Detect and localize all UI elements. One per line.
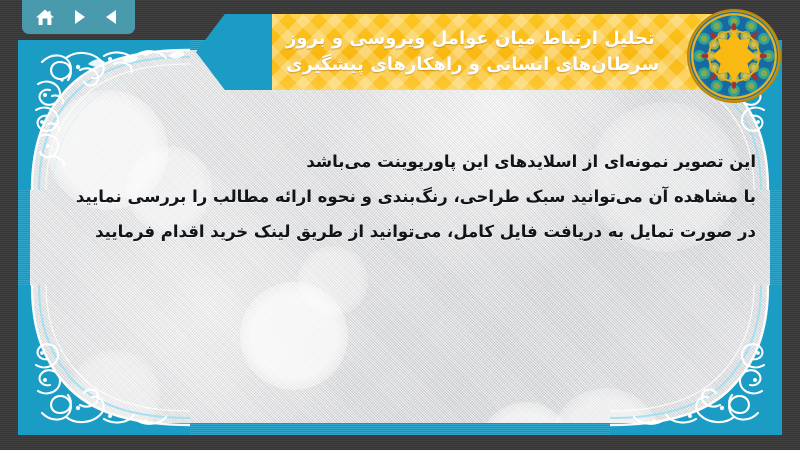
body-line-1: این تصویر نمونه‌ای از اسلایدهای این پاور… — [88, 144, 756, 179]
next-arrow-icon — [70, 8, 88, 26]
bokeh-circle — [550, 388, 662, 423]
slide-title-line-1: تحلیل ارتباط میان عوامل ویروسی و بروز — [286, 26, 655, 52]
slide-title-line-2: سرطان‌های انسانی و راهکارهای پیشگیری — [286, 52, 659, 78]
circular-mandala-rosette-icon — [686, 8, 782, 104]
slide-stage: این تصویر نمونه‌ای از اسلایدهای این پاور… — [0, 0, 800, 450]
slide-navigation-bar[interactable] — [22, 0, 135, 34]
home-button[interactable] — [32, 5, 58, 29]
home-icon — [35, 8, 55, 27]
slide-frame: این تصویر نمونه‌ای از اسلایدهای این پاور… — [18, 40, 782, 435]
bokeh-circle — [478, 402, 574, 423]
previous-button[interactable] — [99, 5, 125, 29]
body-line-2: با مشاهده آن می‌توانید سبک طراحی، رنگ‌بن… — [88, 179, 756, 214]
previous-arrow-icon — [103, 8, 121, 26]
bokeh-circle — [70, 350, 160, 423]
body-line-3: در صورت تمایل به دریافت فایل کامل، می‌تو… — [88, 214, 756, 249]
bokeh-circle — [240, 282, 348, 390]
bokeh-circle — [298, 246, 368, 316]
slide-title-banner: تحلیل ارتباط میان عوامل ویروسی و بروز سر… — [272, 14, 724, 90]
slide-body-text: این تصویر نمونه‌ای از اسلایدهای این پاور… — [88, 144, 756, 249]
next-button[interactable] — [66, 5, 92, 29]
